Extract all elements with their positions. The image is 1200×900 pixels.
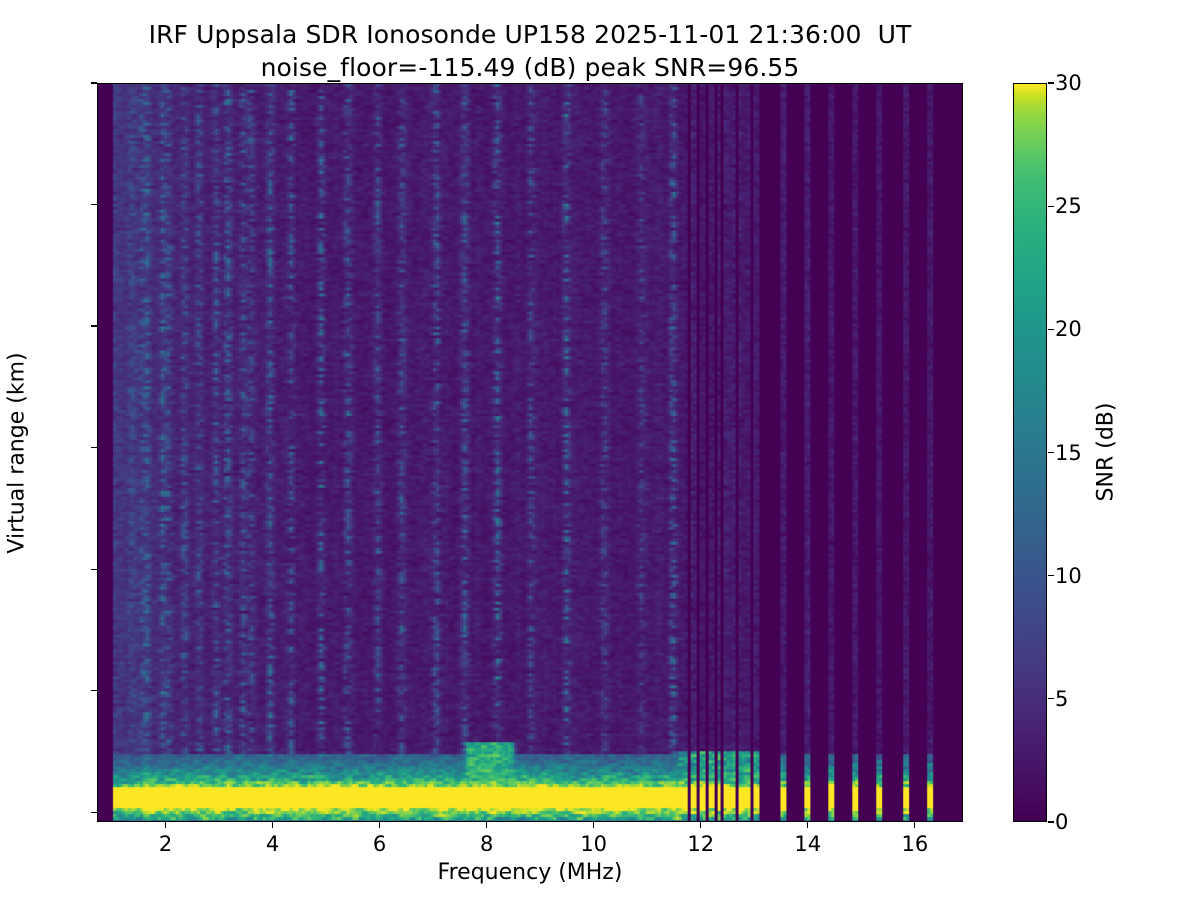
x-tick-label: 12 [687,832,714,856]
y-tick-mark [91,812,97,813]
x-tick-mark [272,822,273,828]
x-tick-mark [165,822,166,828]
colorbar-tick-label: 30 [1055,71,1082,95]
x-tick-label: 6 [373,832,386,856]
plot-axes [97,83,963,822]
colorbar-tick-label: 0 [1055,810,1068,834]
x-axis-label: Frequency (MHz) [438,860,623,885]
x-tick-mark [700,822,701,828]
colorbar-tick-mark [1048,821,1054,822]
x-tick-mark [807,822,808,828]
colorbar-tick-mark [1048,329,1054,330]
y-axis-label: Virtual range (km) [5,352,30,553]
x-tick-mark [914,822,915,828]
y-tick-mark [91,204,97,205]
x-tick-mark [486,822,487,828]
colorbar-tick-label: 15 [1055,441,1082,465]
title-line-primary: IRF Uppsala SDR Ionosonde UP158 2025-11-… [0,18,1060,51]
colorbar-tick-mark [1048,575,1054,576]
title-line-secondary: noise_floor=-115.49 (dB) peak SNR=96.55 [0,51,1060,84]
colorbar-tick-label: 5 [1055,687,1068,711]
colorbar-gradient [1013,83,1047,822]
x-tick-label: 16 [901,832,928,856]
y-tick-mark [91,325,97,326]
colorbar-tick-label: 20 [1055,317,1082,341]
figure-title: IRF Uppsala SDR Ionosonde UP158 2025-11-… [0,18,1060,84]
y-tick-mark [91,569,97,570]
colorbar-tick-label: 10 [1055,564,1082,588]
colorbar-tick-mark [1048,206,1054,207]
y-tick-mark [91,82,97,83]
colorbar-tick-label: 25 [1055,194,1082,218]
x-tick-label: 4 [266,832,279,856]
colorbar-tick-mark [1048,82,1054,83]
x-tick-label: 2 [159,832,172,856]
x-tick-label: 14 [794,832,821,856]
x-tick-mark [379,822,380,828]
x-tick-label: 10 [580,832,607,856]
ionogram-figure: IRF Uppsala SDR Ionosonde UP158 2025-11-… [0,0,1200,900]
x-tick-mark [593,822,594,828]
colorbar-label: SNR (dB) [1094,403,1119,502]
ionogram-heatmap [98,84,962,821]
y-tick-mark [91,690,97,691]
x-tick-label: 8 [480,832,493,856]
colorbar-tick-mark [1048,698,1054,699]
colorbar-tick-mark [1048,452,1054,453]
y-tick-mark [91,447,97,448]
